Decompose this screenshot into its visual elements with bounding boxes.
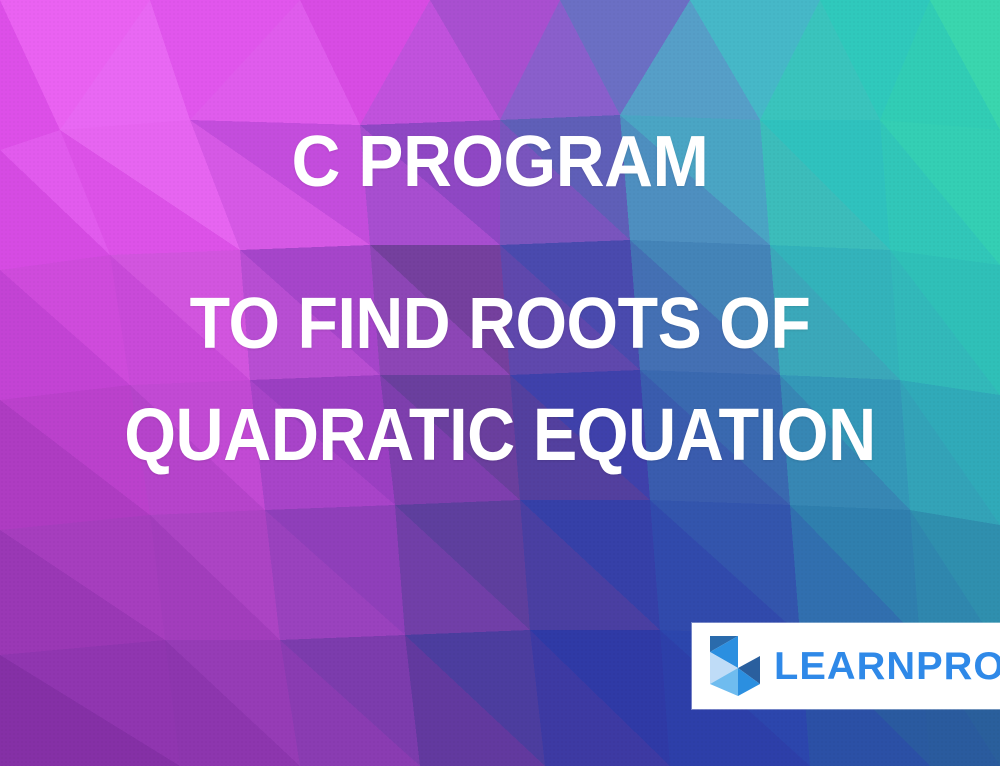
learnprogramo-logo-icon	[706, 634, 762, 698]
logo-wordmark: LEARNPROGR	[774, 647, 1000, 686]
title-card: C PROGRAM TO FIND ROOTS OF QUADRATIC EQU…	[0, 0, 1000, 766]
logo-badge[interactable]: LEARNPROGR	[692, 623, 1000, 709]
